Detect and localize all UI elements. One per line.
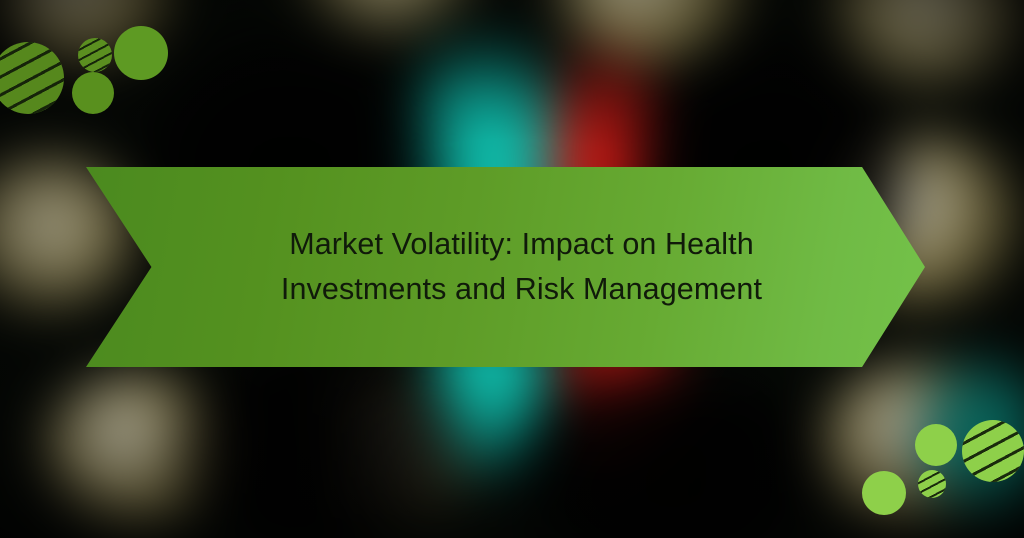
banner-title: Market Volatility: Impact on Health Inve… — [196, 222, 816, 312]
decoration-medium-plain-circle — [114, 26, 168, 80]
decoration-small-plain-circle — [72, 72, 114, 114]
title-ribbon-banner: Market Volatility: Impact on Health Inve… — [86, 167, 925, 367]
decoration-large-striped-circle — [962, 420, 1024, 482]
decoration-medium-plain-circle — [915, 424, 957, 466]
decoration-small-striped-circle — [918, 470, 946, 498]
decoration-small-striped-circle — [78, 38, 112, 72]
banner-image-canvas: Market Volatility: Impact on Health Inve… — [0, 0, 1024, 538]
decoration-small-plain-circle — [862, 471, 906, 515]
